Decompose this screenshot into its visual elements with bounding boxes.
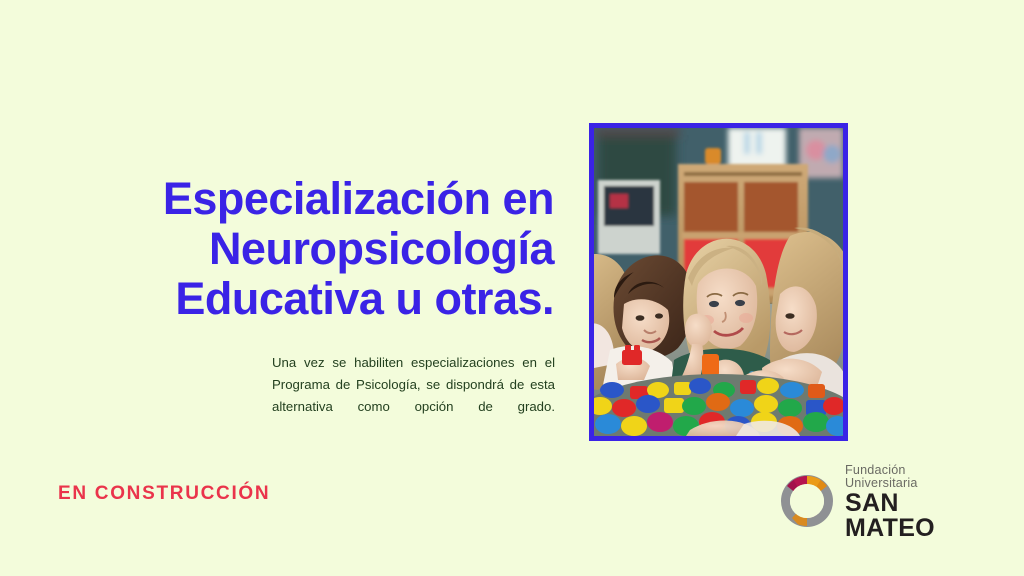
- photo-frame: [589, 123, 848, 441]
- logo: Fundación Universitaria SAN MATEO: [776, 471, 972, 531]
- page-title: Especialización en Neuropsicología Educa…: [150, 174, 554, 324]
- body-paragraph: Una vez se habiliten especializaciones e…: [272, 352, 555, 418]
- slide-canvas: Especialización en Neuropsicología Educa…: [0, 0, 1024, 576]
- san-mateo-infinity-rings-icon: [776, 472, 838, 530]
- logo-supertitle: Fundación Universitaria: [845, 464, 972, 489]
- logo-title: SAN MATEO: [845, 491, 972, 541]
- logo-wordmark: Fundación Universitaria SAN MATEO: [845, 461, 972, 541]
- status-badge: EN CONSTRUCCIÓN: [58, 483, 270, 505]
- classroom-photo: [594, 128, 843, 436]
